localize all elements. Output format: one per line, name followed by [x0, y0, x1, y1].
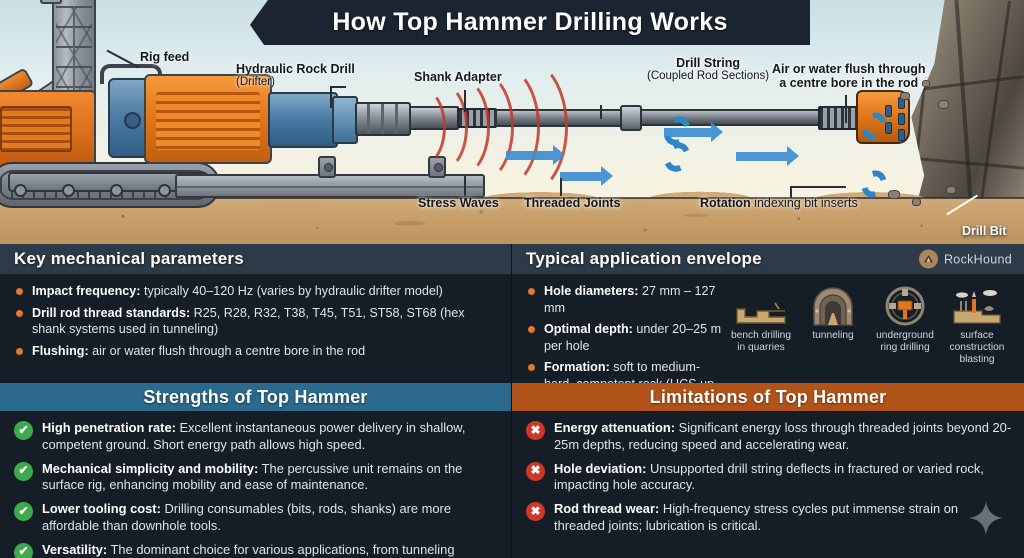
brand-name: RockHound [944, 252, 1012, 266]
application-icon-caption: surface construction blasting [944, 330, 1010, 366]
cab-grille [0, 106, 72, 152]
check-icon: ✔ [14, 543, 33, 558]
leader-line [560, 178, 562, 196]
limitations-header: Limitations of Top Hammer [512, 383, 1024, 411]
application-envelope-list: Hole diameters: 27 mm – 127 mm Optimal d… [526, 283, 728, 383]
drilling-illustration: How Top Hammer Drilling Works Rig feed H… [0, 0, 1024, 244]
track-roller [158, 184, 171, 197]
brand-logo: RockHound [919, 250, 1012, 269]
rock-debris [946, 186, 956, 194]
feed-support-foot [318, 156, 336, 178]
label-rock-drill-main: Hydraulic Rock Drill [236, 62, 355, 76]
track-roller [62, 184, 75, 197]
label-stress-waves: Stress Waves [418, 196, 499, 210]
list-item: ✖Energy attenuation: Significant energy … [522, 420, 1012, 454]
shank-ring [395, 104, 398, 134]
surface-blasting-icon [944, 285, 1010, 327]
application-envelope-header: Typical application envelope RockHound [512, 244, 1024, 274]
item-label: Lower tooling cost: [42, 501, 161, 516]
list-item: Drill rod thread standards: R25, R28, R3… [14, 305, 497, 338]
list-item: Optimal depth: under 20–25 m per hole [526, 321, 728, 354]
feed-beam-rail [177, 186, 483, 188]
application-icons: bench drilling in quarries [728, 283, 1010, 383]
infographic-root: How Top Hammer Drilling Works Rig feed H… [0, 0, 1024, 558]
application-icon-caption: bench drilling in quarries [728, 330, 794, 354]
track-roller [110, 184, 123, 197]
list-item: Flushing: air or water flush through a c… [14, 343, 497, 360]
key-parameters-header: Key mechanical parameters [0, 244, 511, 274]
leader-line [464, 176, 466, 196]
list-item: Impact frequency: typically 40–120 Hz (v… [14, 283, 497, 300]
item-label: Hole diameters: [544, 284, 638, 298]
item-label: Hole deviation: [554, 461, 646, 476]
key-parameters-title: Key mechanical parameters [14, 249, 244, 269]
strengths-list: ✔High penetration rate: Excellent instan… [0, 411, 511, 558]
panel-row-top: Key mechanical parameters Impact frequen… [0, 244, 1024, 383]
application-icon-surface-blasting: surface construction blasting [944, 285, 1010, 383]
panel-strengths: Strengths of Top Hammer ✔High penetratio… [0, 383, 512, 558]
label-rock-drill-sub: (Drifter) [236, 76, 355, 89]
mountain-badge-icon [919, 250, 938, 269]
rock-debris [938, 100, 949, 109]
application-icon-tunneling: tunneling [800, 285, 866, 383]
item-label: Flushing: [32, 344, 89, 358]
bit-insert [898, 129, 905, 141]
application-icon-caption: underground ring drilling [872, 330, 938, 354]
flush-arrow [506, 151, 554, 160]
cross-icon: ✖ [526, 421, 545, 440]
list-item: ✔High penetration rate: Excellent instan… [10, 420, 499, 454]
label-drill-string: Drill String (Coupled Rod Sections) [647, 56, 769, 84]
item-label: Energy attenuation: [554, 420, 675, 435]
list-item: ✔Lower tooling cost: Drilling consumable… [10, 501, 499, 535]
label-rig-feed: Rig feed [140, 50, 189, 64]
ring-drilling-icon [872, 285, 938, 327]
page-title: How Top Hammer Drilling Works [332, 8, 727, 37]
shank-ring [381, 104, 384, 134]
label-drill-string-sub: (Coupled Rod Sections) [647, 70, 769, 83]
panel-application-envelope: Typical application envelope RockHound [512, 244, 1024, 383]
label-drill-bit: Drill Bit [962, 224, 1006, 238]
drifter-front-housing [268, 92, 338, 148]
label-rotation-bold: Rotation [700, 196, 751, 210]
drifter-cooling-fins [156, 92, 260, 150]
panel-row-bottom: Strengths of Top Hammer ✔High penetratio… [0, 383, 1024, 558]
cross-icon: ✖ [526, 462, 545, 481]
application-icon-ring-drilling: underground ring drilling [872, 285, 938, 383]
item-label: Drill rod thread standards: [32, 306, 190, 320]
item-label: Impact frequency: [32, 284, 140, 298]
panel-limitations: Limitations of Top Hammer ✖Energy attenu… [512, 383, 1024, 558]
item-label: Rod thread wear: [554, 501, 659, 516]
bench-drilling-icon [728, 285, 794, 327]
label-flush: Air or water flush through a centre bore… [772, 62, 925, 91]
list-item: ✖Rod thread wear: High-frequency stress … [522, 501, 1012, 535]
label-hydraulic-rock-drill: Hydraulic Rock Drill (Drifter) [236, 62, 355, 90]
limitations-list: ✖Energy attenuation: Significant energy … [512, 411, 1024, 546]
label-drill-string-main: Drill String [676, 56, 740, 70]
title-banner: How Top Hammer Drilling Works [250, 0, 810, 45]
rock-debris [900, 92, 910, 100]
leader-line [600, 105, 602, 119]
rod-coupling [620, 105, 642, 131]
check-icon: ✔ [14, 421, 33, 440]
bit-insert [898, 113, 905, 125]
leader-line [845, 95, 847, 123]
bit-insert [885, 105, 892, 117]
panels-area: Key mechanical parameters Impact frequen… [0, 244, 1024, 558]
list-item: Formation: soft to medium-hard, competen… [526, 359, 728, 383]
strengths-header: Strengths of Top Hammer [0, 383, 511, 411]
list-item: ✔Versatility: The dominant choice for va… [10, 542, 499, 558]
shank-ring [367, 104, 370, 134]
check-icon: ✔ [14, 462, 33, 481]
list-item: ✖Hole deviation: Unsupported drill strin… [522, 461, 1012, 495]
application-envelope-title: Typical application envelope [526, 249, 762, 269]
label-threaded-joints: Threaded Joints [524, 196, 621, 210]
rock-debris [888, 190, 900, 199]
check-icon: ✔ [14, 502, 33, 521]
application-icon-bench-drilling: bench drilling in quarries [728, 285, 794, 383]
leader-line [790, 186, 846, 188]
item-label: Formation: [544, 360, 610, 374]
item-label: High penetration rate: [42, 420, 176, 435]
label-flush-line2: a centre bore in the rod [772, 76, 925, 90]
envelope-content: Hole diameters: 27 mm – 127 mm Optimal d… [526, 283, 1010, 383]
item-text: typically 40–120 Hz (varies by hydraulic… [140, 284, 442, 298]
threaded-joint-front [818, 106, 858, 130]
strengths-title: Strengths of Top Hammer [143, 387, 367, 408]
tunnel-icon [800, 285, 866, 327]
application-icon-caption: tunneling [800, 330, 866, 342]
flush-arrow [736, 152, 788, 161]
label-rotation: Rotation indexing bit inserts [700, 196, 858, 210]
label-rotation-rest: indexing bit inserts [751, 196, 858, 210]
rig-cab [0, 90, 96, 168]
item-label: Mechanical simplicity and mobility: [42, 461, 258, 476]
track-roller [14, 184, 27, 197]
label-flush-line1: Air or water flush through [772, 62, 925, 76]
limitations-title: Limitations of Top Hammer [650, 387, 887, 408]
item-label: Optimal depth: [544, 322, 633, 336]
panel-key-parameters: Key mechanical parameters Impact frequen… [0, 244, 512, 383]
flush-arrow [560, 172, 602, 181]
leader-line [464, 90, 466, 112]
list-item: ✔Mechanical simplicity and mobility: The… [10, 461, 499, 495]
key-parameters-body: Impact frequency: typically 40–120 Hz (v… [0, 274, 511, 370]
application-envelope-body: Hole diameters: 27 mm – 127 mm Optimal d… [512, 274, 1024, 383]
sparkle-watermark-icon [968, 500, 1004, 536]
list-item: Hole diameters: 27 mm – 127 mm [526, 283, 728, 316]
item-label: Versatility: [42, 542, 107, 557]
rock-debris [912, 198, 921, 206]
cross-icon: ✖ [526, 502, 545, 521]
label-shank-adapter: Shank Adapter [414, 70, 502, 84]
mast-cap [40, 0, 62, 4]
key-parameters-list: Impact frequency: typically 40–120 Hz (v… [14, 283, 497, 359]
item-text: air or water flush through a centre bore… [89, 344, 366, 358]
